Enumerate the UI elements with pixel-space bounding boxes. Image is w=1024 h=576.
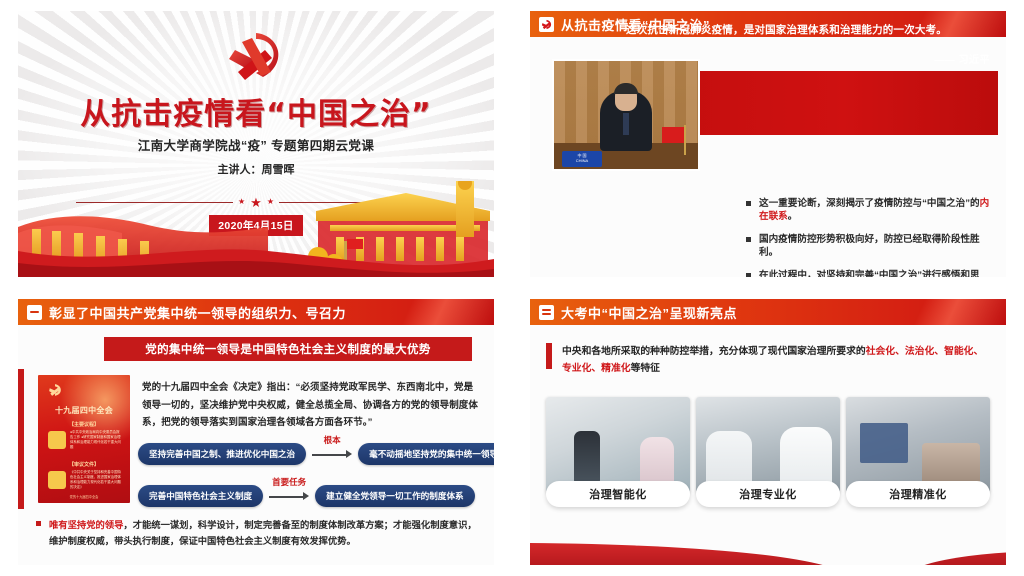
bullet-list: 这一重要论断，深刻揭示了疫情防控与“中国之治”的内在联系。 国内疫情防控形势积极… <box>706 197 996 277</box>
flow-arrow-label: 首要任务 <box>272 476 306 488</box>
date-badge-label: 2020年4月15日 <box>209 215 302 236</box>
wave-right <box>901 551 1006 565</box>
date-badge: 2020年4月15日 <box>18 215 494 236</box>
feature-card[interactable]: 治理精准化 <box>846 397 990 507</box>
card-photo-robot <box>546 397 690 493</box>
slide-header-bar: 大考中“中国之治”呈现新亮点 <box>530 299 1006 325</box>
star-icon-large: ★ <box>250 196 262 209</box>
arrow-head <box>346 450 352 458</box>
slide-deck-grid: 从抗击疫情看“中国之治” 江南大学商学院战“疫” 专题第四期云党课 主讲人：周雪… <box>0 0 1024 576</box>
lead-paragraph: 中央和各地所采取的种种防控举措，充分体现了现代国家治理所要求的社会化、法治化、智… <box>562 343 986 377</box>
bottom-wave-decoration <box>530 531 1006 565</box>
arrow-line <box>269 496 303 498</box>
left-accent-bar <box>18 369 24 509</box>
poster-section-a-body: ●中共中央政治局向中央委员会报告工作 ●研究国家制度和国家治理体系和治理能力现代… <box>70 430 122 450</box>
poster-title: 十九届四中全会 <box>38 405 130 416</box>
slide-header-title: 大考中“中国之治”呈现新亮点 <box>561 303 737 322</box>
poster-section-b-title: 【审议文件】 <box>38 461 130 468</box>
card-photo-doctors <box>696 397 840 493</box>
divider-line-right <box>279 202 436 203</box>
poster-section-b-body: 《中共中央关于坚持和完善中国特色社会主义制度、推进国家治理体系和治理能力现代化若… <box>70 470 122 490</box>
footnote-highlight: 唯有坚持党的领导 <box>49 520 123 530</box>
slide-section-two[interactable]: 大考中“中国之治”呈现新亮点 中央和各地所采取的种种防控举措，充分体现了现代国家… <box>512 288 1024 576</box>
slide-header-title: 从抗击疫情看“中国之治” <box>561 15 710 34</box>
lead-accent-mark <box>546 343 552 369</box>
star-divider: ★ ★ ★ <box>76 195 436 209</box>
slide-section-one-canvas: 彰显了中国共产党集中统一领导的组织力、号召力 党的集中统一领导是中国特色社会主义… <box>18 299 494 565</box>
slide-header-title: 彰显了中国共产党集中统一领导的组织力、号召力 <box>49 303 346 322</box>
bullet-text-pre: 这一重要论断，深刻揭示了疫情防控与“中国之治”的 <box>759 198 980 209</box>
ccp-emblem-icon <box>18 27 494 87</box>
ccp-emblem-icon <box>539 17 554 32</box>
lead-part-two: 等特征 <box>631 363 660 374</box>
poster-footer: 党的十九届四中全会 <box>38 494 130 499</box>
card-photo-ward <box>846 397 990 493</box>
quote-attribution: —— 习近平 <box>934 51 990 66</box>
title-subtitle: 江南大学商学院战“疫” 专题第四期云党课 <box>18 135 494 154</box>
flow-pill-from: 坚持完善中国之制、推进优化中国之治 <box>138 443 306 465</box>
ccp-emblem-icon <box>48 383 62 397</box>
feature-card[interactable]: 治理智能化 <box>546 397 690 507</box>
nameplate-line-en: CHINA <box>576 159 588 164</box>
china-flag-icon <box>662 127 684 143</box>
number-one-icon <box>27 305 42 320</box>
flow-pill-to: 建立健全党领导一切工作的制度体系 <box>315 485 475 507</box>
feature-card[interactable]: 治理专业化 <box>696 397 840 507</box>
list-item: 在此过程中，对坚持和完善“中国之治”进行感悟和思考。 <box>746 269 996 277</box>
star-icon-small-right: ★ <box>267 198 274 206</box>
poster-section-a-title: 【主要议程】 <box>38 421 130 428</box>
bullet-text-post: 。 <box>788 211 798 222</box>
lead-part-one: 中央和各地所采取的种种防控举措，充分体现了现代国家治理所要求的 <box>562 346 866 357</box>
slide-header-bar: 彰显了中国共产党集中统一领导的组织力、号召力 <box>18 299 494 325</box>
flow-pill-to: 毫不动摇地坚持党的集中统一领导 <box>358 443 494 465</box>
emphasis-banner: 党的集中统一领导是中国特色社会主义制度的最大优势 <box>104 337 472 361</box>
photo-flagpole <box>684 125 686 155</box>
divider-line-left <box>76 202 233 203</box>
poster-icon-b <box>48 471 66 489</box>
photo-figure-tie <box>623 113 629 135</box>
flow-row: 完善中国特色社会主义制度 首要任务 建立健全党领导一切工作的制度体系 <box>138 481 484 511</box>
page-title: 从抗击疫情看“中国之治” <box>18 89 494 133</box>
star-icon-small-left: ★ <box>238 198 245 206</box>
body-paragraph: 党的十九届四中全会《决定》指出：“必须坚持党政军民学、东西南北中，党是领导一切的… <box>142 379 480 432</box>
photo-nameplate: 中 国 CHINA <box>562 151 602 167</box>
feature-card-row: 治理智能化 治理专业化 治理精准化 <box>546 397 990 507</box>
number-two-icon <box>539 305 554 320</box>
header-flag-decoration <box>886 299 1006 325</box>
card-caption: 治理智能化 <box>546 481 690 507</box>
flow-row: 坚持完善中国之制、推进优化中国之治 根本 毫不动摇地坚持党的集中统一领导 <box>138 439 484 469</box>
flow-diagram: 坚持完善中国之制、推进优化中国之治 根本 毫不动摇地坚持党的集中统一领导 完善中… <box>138 439 484 523</box>
wave-left <box>530 543 844 565</box>
header-flag-decoration <box>374 299 494 325</box>
slide-quote-canvas: 从抗击疫情看“中国之治” 中 国 CHINA 这次抗击新冠肺炎疫情，是对国家治理… <box>530 11 1006 277</box>
plenary-session-poster: 十九届四中全会 【主要议程】 ●中共中央政治局向中央委员会报告工作 ●研究国家制… <box>38 375 130 503</box>
slide-section-one[interactable]: 彰显了中国共产党集中统一领导的组织力、号召力 党的集中统一领导是中国特色社会主义… <box>0 288 512 576</box>
xi-jinping-photo: 中 国 CHINA <box>552 59 700 171</box>
poster-icon-a <box>48 431 66 449</box>
list-item: 国内疫情防控形势积极向好，防控已经取得阶段性胜利。 <box>746 233 996 260</box>
card-caption: 治理专业化 <box>696 481 840 507</box>
card-caption: 治理精准化 <box>846 481 990 507</box>
speaker-label: 主讲人：周雪晖 <box>18 161 494 177</box>
flow-arrow-label: 根本 <box>324 434 341 446</box>
slide-quote[interactable]: 从抗击疫情看“中国之治” 中 国 CHINA 这次抗击新冠肺炎疫情，是对国家治理… <box>512 0 1024 288</box>
slide-title[interactable]: 从抗击疫情看“中国之治” 江南大学商学院战“疫” 专题第四期云党课 主讲人：周雪… <box>0 0 512 288</box>
slide-section-two-canvas: 大考中“中国之治”呈现新亮点 中央和各地所采取的种种防控举措，充分体现了现代国家… <box>530 299 1006 565</box>
bullet-text-pre: 国内疫情防控形势积极向好，防控已经取得阶段性胜利。 <box>759 234 980 258</box>
arrow-line <box>312 454 346 456</box>
flow-pill-from: 完善中国特色社会主义制度 <box>138 485 263 507</box>
bullet-text-pre: 在此过程中，对坚持和完善“中国之治”进行感悟和思考。 <box>759 270 980 277</box>
flow-arrow: 根本 <box>310 447 354 461</box>
slide-title-canvas: 从抗击疫情看“中国之治” 江南大学商学院战“疫” 专题第四期云党课 主讲人：周雪… <box>18 11 494 277</box>
list-item: 这一重要论断，深刻揭示了疫情防控与“中国之治”的内在联系。 <box>746 197 996 224</box>
footnote-text: 唯有坚持党的领导，才能统一谋划，科学设计，制定完善备至的制度体制改革方案；才能强… <box>36 517 480 550</box>
flow-arrow: 首要任务 <box>267 489 311 503</box>
arrow-head <box>303 492 309 500</box>
